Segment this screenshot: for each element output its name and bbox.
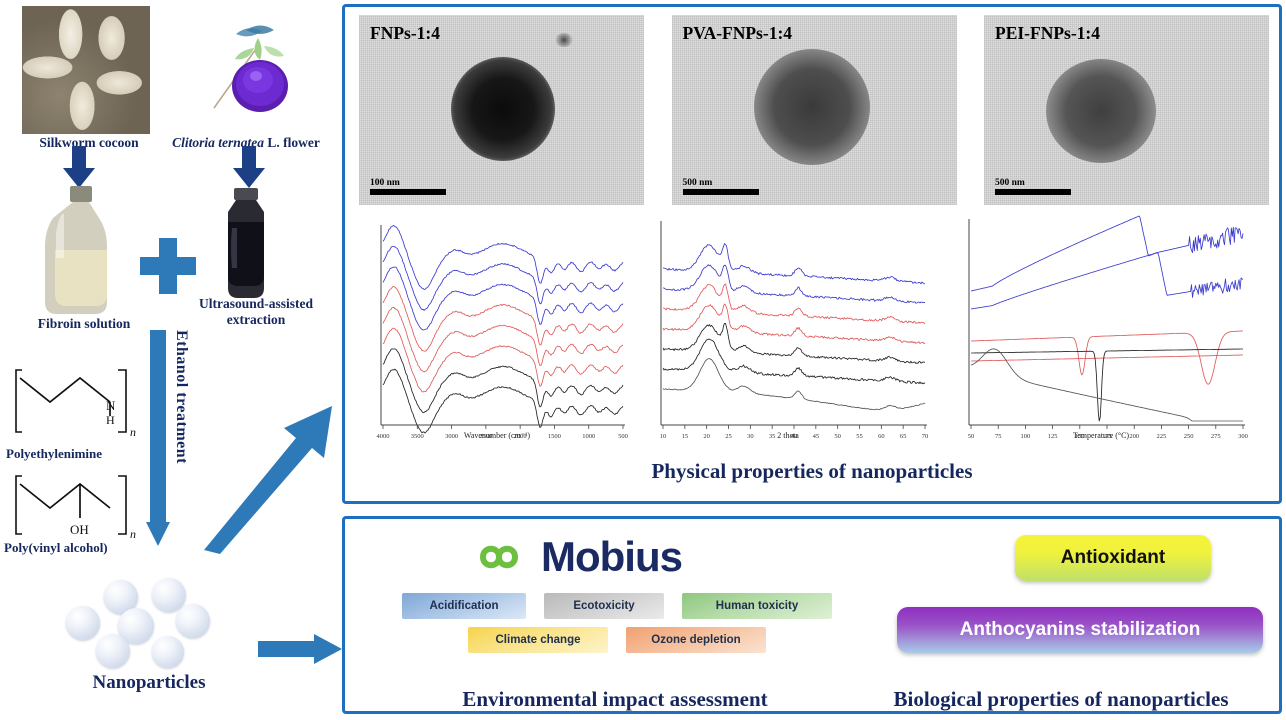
- nanoparticles-label: Nanoparticles: [24, 672, 274, 694]
- nanoparticle-dot: [66, 606, 100, 640]
- tem-title: PEI-FNPs-1:4: [995, 23, 1100, 44]
- nanoparticle-dot: [176, 604, 210, 638]
- svg-text:OH: OH: [70, 522, 89, 537]
- tem-image-row: FNPs-1:4 100 nm PVA-FNPs-1:4 500 nm PEI-…: [359, 15, 1269, 207]
- xrd-chart: 10152025303540455055606570 2 theta: [643, 213, 933, 461]
- fibroin-solution-bottle: [42, 186, 120, 318]
- clitoria-flower-photo: [196, 12, 306, 132]
- environmental-assessment-caption: Environmental impact assessment: [385, 687, 845, 712]
- impact-row-1: Acidification Ecotoxicity Human toxicity: [357, 593, 877, 619]
- polyethylenimine-structure: N H n: [6, 358, 146, 444]
- dsc-xlabel: Temperature (°C): [951, 431, 1251, 440]
- svg-text:H: H: [106, 413, 115, 427]
- mobius-logo: Mobius: [465, 533, 682, 581]
- silkworm-cocoon-photo: [22, 6, 150, 134]
- arrow-down-cocoon-icon: [58, 146, 100, 190]
- tem-particle: [451, 57, 555, 161]
- physical-properties-panel: FNPs-1:4 100 nm PVA-FNPs-1:4 500 nm PEI-…: [342, 4, 1282, 504]
- impact-categories: Acidification Ecotoxicity Human toxicity…: [357, 593, 877, 661]
- bio-badge-antioxidant: Antioxidant: [1015, 535, 1211, 581]
- tem-scale-bar-text: 500 nm: [683, 178, 759, 188]
- tem-scale-bar-line: [683, 189, 759, 195]
- arrow-to-assessment-icon: [258, 634, 344, 664]
- arrow-down-flower-icon: [228, 146, 270, 190]
- impact-badge-acidification: Acidification: [402, 593, 526, 619]
- workflow-column: Silkworm cocoon Clitoria ternatea L. flo…: [0, 0, 340, 720]
- mobius-logo-text: Mobius: [541, 533, 682, 581]
- physical-properties-caption: Physical properties of nanoparticles: [345, 459, 1279, 484]
- tem-debris: [555, 33, 573, 47]
- impact-badge-human-toxicity: Human toxicity: [682, 593, 832, 619]
- tem-scale-bar: 500 nm: [683, 178, 759, 195]
- tem-title: PVA-FNPs-1:4: [683, 23, 793, 44]
- ethanol-treatment-arrow-icon: [146, 330, 170, 550]
- graphical-abstract: Silkworm cocoon Clitoria ternatea L. flo…: [0, 0, 1286, 720]
- polyethylenimine-label: Polyethylenimine: [0, 446, 166, 462]
- nanoparticle-dot: [152, 578, 186, 612]
- results-panel: Mobius Acidification Ecotoxicity Human t…: [342, 516, 1282, 714]
- chart-row: 4000350030002500200015001000500 Wavenumb…: [355, 213, 1273, 461]
- flower-label-suffix: L. flower: [264, 135, 320, 150]
- tem-scale-bar-text: 100 nm: [370, 178, 446, 188]
- ethanol-treatment-label: Ethanol treatment: [172, 330, 190, 464]
- nanoparticle-dot: [96, 634, 130, 668]
- infinity-icon: [465, 535, 533, 579]
- tem-image-fnps: FNPs-1:4 100 nm: [359, 15, 644, 205]
- fibroin-solution-label: Fibroin solution: [0, 316, 168, 332]
- bio-badge-anthocyanins-stabilization: Anthocyanins stabilization: [897, 607, 1263, 653]
- tem-image-pei-fnps: PEI-FNPs-1:4 500 nm: [984, 15, 1269, 205]
- impact-badge-climate-change: Climate change: [468, 627, 608, 653]
- tem-scale-bar-line: [995, 189, 1071, 195]
- arrow-to-physical-properties-icon: [200, 404, 340, 554]
- ftir-plot: 4000350030002500200015001000500: [363, 213, 631, 449]
- nanoparticle-cluster: [56, 578, 246, 668]
- tem-particle: [754, 49, 870, 165]
- tem-image-pva-fnps: PVA-FNPs-1:4 500 nm: [672, 15, 957, 205]
- tem-scale-bar: 500 nm: [995, 178, 1071, 195]
- xrd-xlabel: 2 theta: [643, 431, 933, 440]
- impact-row-2: Climate change Ozone depletion: [357, 627, 877, 653]
- anthocyanin-extract-bottle: [216, 188, 276, 300]
- impact-badge-ozone-depletion: Ozone depletion: [626, 627, 766, 653]
- dsc-chart: 5075100125150175200225250275300 Temperat…: [951, 213, 1251, 461]
- ftir-xlabel: Wavenumber (cm⁻¹): [363, 431, 631, 440]
- xrd-plot: 10152025303540455055606570: [643, 213, 933, 449]
- svg-text:n: n: [130, 527, 136, 541]
- tem-particle: [1046, 59, 1156, 163]
- plus-sign-icon: [140, 238, 196, 294]
- impact-badge-ecotoxicity: Ecotoxicity: [544, 593, 664, 619]
- svg-text:n: n: [130, 425, 136, 439]
- svg-text:N: N: [106, 398, 116, 413]
- biological-properties-caption: Biological properties of nanoparticles: [845, 687, 1277, 712]
- dsc-plot: 5075100125150175200225250275300: [951, 213, 1251, 449]
- nanoparticle-dot: [152, 636, 184, 668]
- poly-vinyl-alcohol-structure: OH n: [6, 468, 146, 546]
- tem-scale-bar-line: [370, 189, 446, 195]
- ultrasound-extraction-label: Ultrasound-assisted extraction: [172, 296, 340, 327]
- ftir-chart: 4000350030002500200015001000500 Wavenumb…: [363, 213, 631, 461]
- tem-title: FNPs-1:4: [370, 23, 440, 44]
- tem-scale-bar-text: 500 nm: [995, 178, 1071, 188]
- tem-scale-bar: 100 nm: [370, 178, 446, 195]
